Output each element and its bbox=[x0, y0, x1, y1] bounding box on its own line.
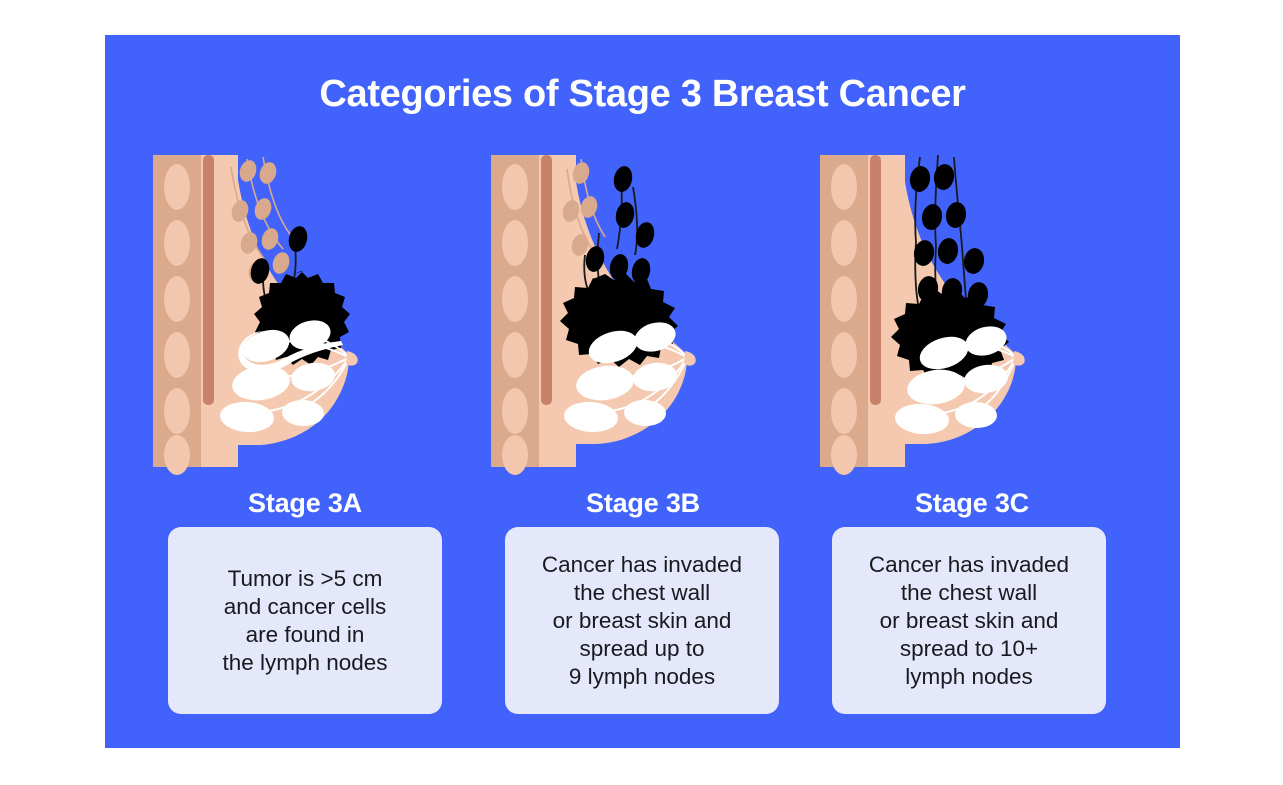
chest-wall-group bbox=[820, 155, 868, 475]
infographic-panel: Categories of Stage 3 Breast Cancer bbox=[105, 35, 1180, 748]
sternum-bar bbox=[541, 155, 552, 405]
sternum-bar bbox=[203, 155, 214, 405]
breast-cross-section-stage-3a-illustration bbox=[135, 145, 475, 475]
stage-card-3a: Stage 3A Tumor is >5 cm and cancer cells… bbox=[135, 145, 475, 745]
sternum-bar bbox=[870, 155, 881, 405]
cancerous-lymph-nodes bbox=[908, 162, 990, 309]
stage-label-3a: Stage 3A bbox=[135, 488, 475, 519]
stage-label-3b: Stage 3B bbox=[473, 488, 813, 519]
caption-box-3a: Tumor is >5 cm and cancer cells are foun… bbox=[168, 527, 442, 714]
breast-cross-section-stage-3b-illustration bbox=[473, 145, 813, 475]
chest-wall-group bbox=[491, 155, 539, 475]
nipple bbox=[684, 351, 696, 366]
caption-box-3b: Cancer has invaded the chest wall or bre… bbox=[505, 527, 779, 714]
caption-text-3c: Cancer has invaded the chest wall or bre… bbox=[863, 551, 1075, 691]
stage-label-3c: Stage 3C bbox=[802, 488, 1142, 519]
caption-text-3a: Tumor is >5 cm and cancer cells are foun… bbox=[216, 565, 393, 677]
caption-text-3b: Cancer has invaded the chest wall or bre… bbox=[536, 551, 748, 691]
breast-cross-section-stage-3c-illustration bbox=[802, 145, 1142, 475]
stage-card-3c: Stage 3C Cancer has invaded the chest wa… bbox=[802, 145, 1142, 745]
chest-wall-group bbox=[153, 155, 201, 475]
caption-box-3c: Cancer has invaded the chest wall or bre… bbox=[832, 527, 1106, 714]
stage-card-3b: Stage 3B Cancer has invaded the chest wa… bbox=[473, 145, 813, 745]
nipple bbox=[346, 351, 358, 366]
cancerous-lymph-nodes bbox=[583, 164, 656, 285]
page-title: Categories of Stage 3 Breast Cancer bbox=[105, 73, 1180, 116]
nipple bbox=[1013, 351, 1025, 366]
